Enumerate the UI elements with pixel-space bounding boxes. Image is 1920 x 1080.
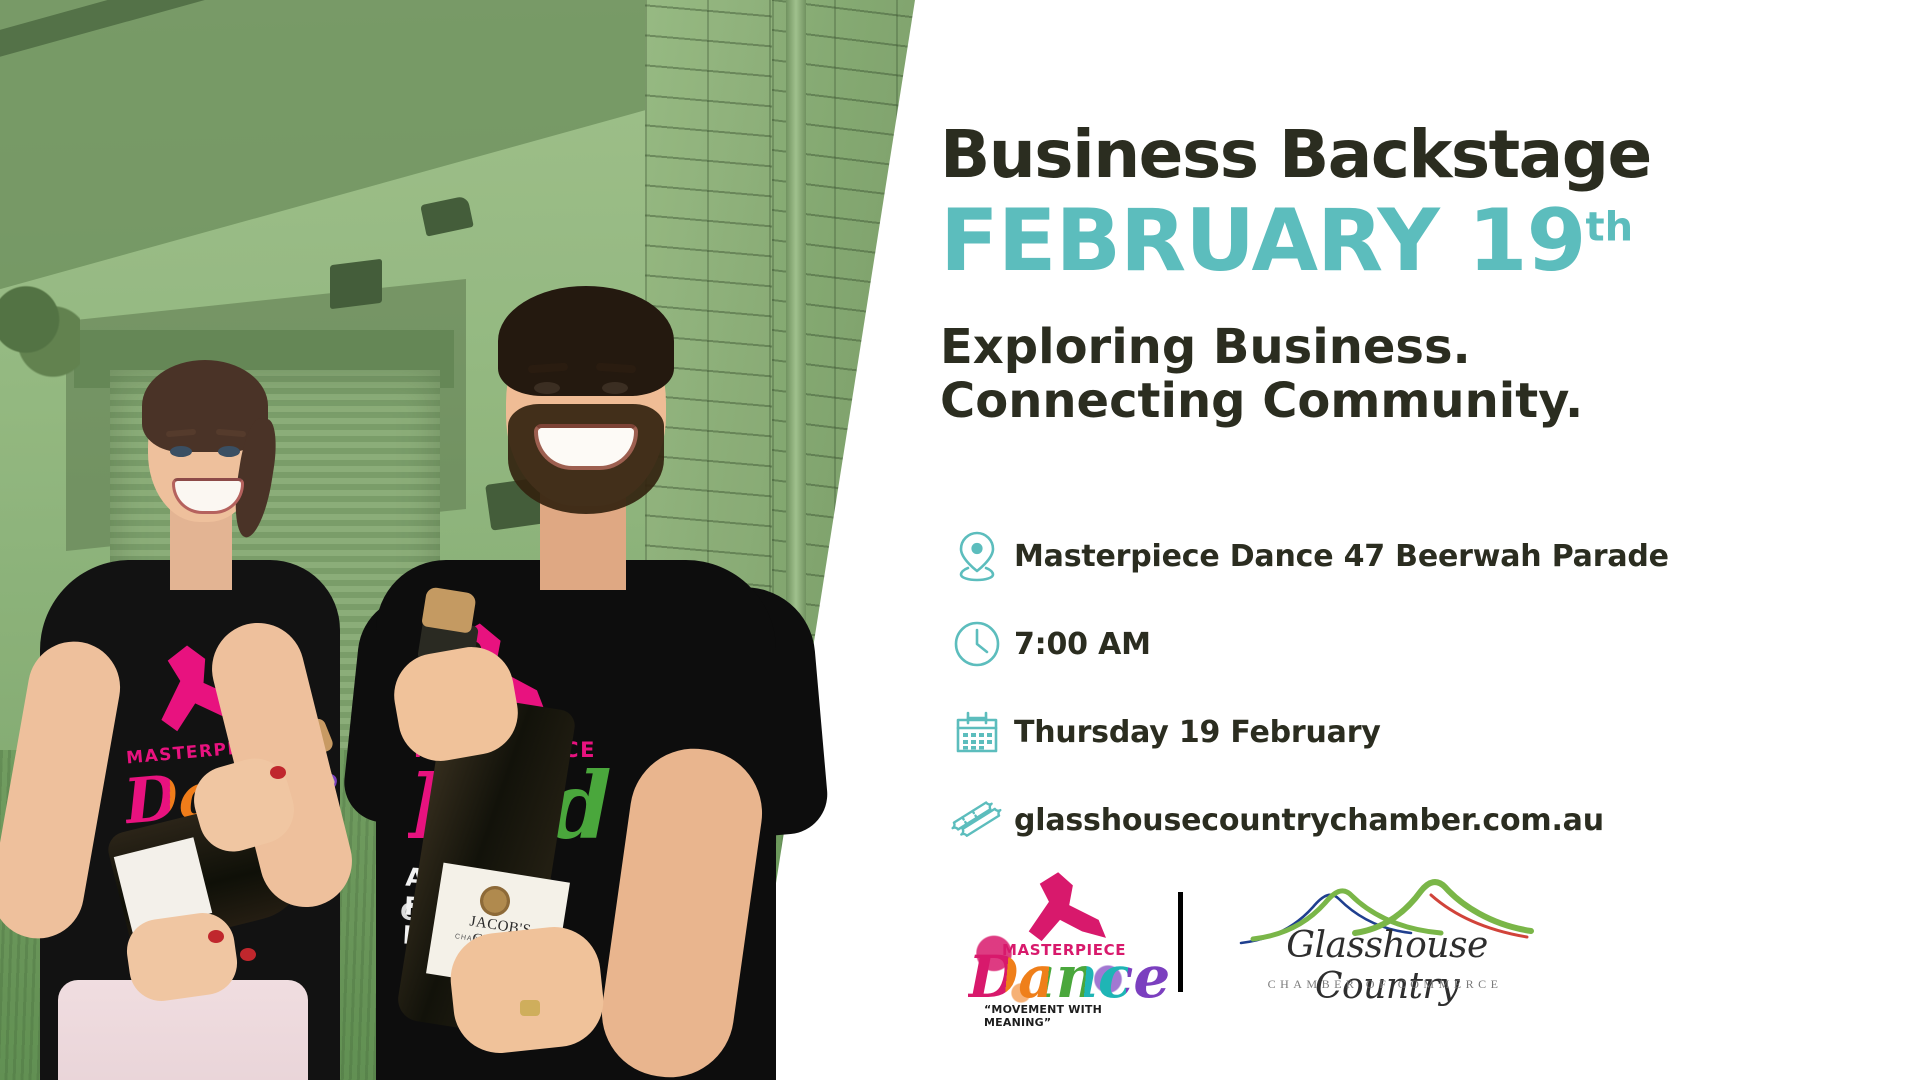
downpipe	[786, 0, 806, 1080]
sponsor-logos: MASTERPIECE Dance “MOVEMENT WITH MEANING…	[940, 862, 1580, 1022]
masterpiece-dance-logo: MASTERPIECE Dance “MOVEMENT WITH MEANING…	[958, 867, 1148, 1017]
event-day-text: 19	[1468, 191, 1586, 291]
dance-logo-tagline-text: “MOVEMENT WITH MEANING”	[984, 1003, 1148, 1029]
event-day-suffix-text: th	[1585, 204, 1633, 250]
wall-light-1	[330, 259, 382, 309]
chamber-logo-name-text: Glasshouse Country	[1241, 925, 1533, 1007]
event-details-list: Masterpiece Dance 47 Beerwah Parade 7:00…	[940, 512, 1860, 864]
dance-logo-script-text: Dance	[968, 943, 1170, 1011]
event-month-text: FEBRUARY	[940, 191, 1439, 291]
detail-row-date: Thursday 19 February	[940, 688, 1860, 776]
event-date-headline: FEBRUARY 19th	[940, 198, 1633, 284]
detail-location-text: Masterpiece Dance 47 Beerwah Parade	[1014, 539, 1669, 574]
event-photo	[0, 0, 940, 1080]
tickets-icon	[940, 796, 1014, 844]
tree-foliage	[0, 270, 80, 380]
logo-divider	[1178, 892, 1183, 992]
page-title: Business Backstage	[940, 116, 1651, 193]
location-pin-icon	[940, 530, 1014, 582]
detail-date-text: Thursday 19 February	[1014, 715, 1381, 750]
detail-row-website[interactable]: glasshousecountrychamber.com.au	[940, 776, 1860, 864]
detail-row-time: 7:00 AM	[940, 600, 1860, 688]
detail-row-location: Masterpiece Dance 47 Beerwah Parade	[940, 512, 1860, 600]
wall-light-3	[485, 475, 561, 530]
poster-content: Business Backstage FEBRUARY 19th Explori…	[940, 0, 1920, 1080]
detail-website-text[interactable]: glasshousecountrychamber.com.au	[1014, 803, 1604, 838]
event-poster: MASTERPIECE Dance MOVEMENT WITH MEANING	[0, 0, 1920, 1080]
detail-time-text: 7:00 AM	[1014, 627, 1151, 662]
glasshouse-country-chamber-logo: Glasshouse Country CHAMBER OF COMMERCE	[1235, 877, 1535, 1007]
calendar-icon	[940, 708, 1014, 756]
photo-background-scene	[0, 0, 940, 1080]
chamber-logo-subtitle-text: CHAMBER OF COMMERCE	[1235, 977, 1535, 992]
clock-icon	[940, 620, 1014, 668]
synthetic-turf-ground	[0, 750, 940, 1080]
event-tagline: Exploring Business. Connecting Community…	[940, 320, 1583, 428]
